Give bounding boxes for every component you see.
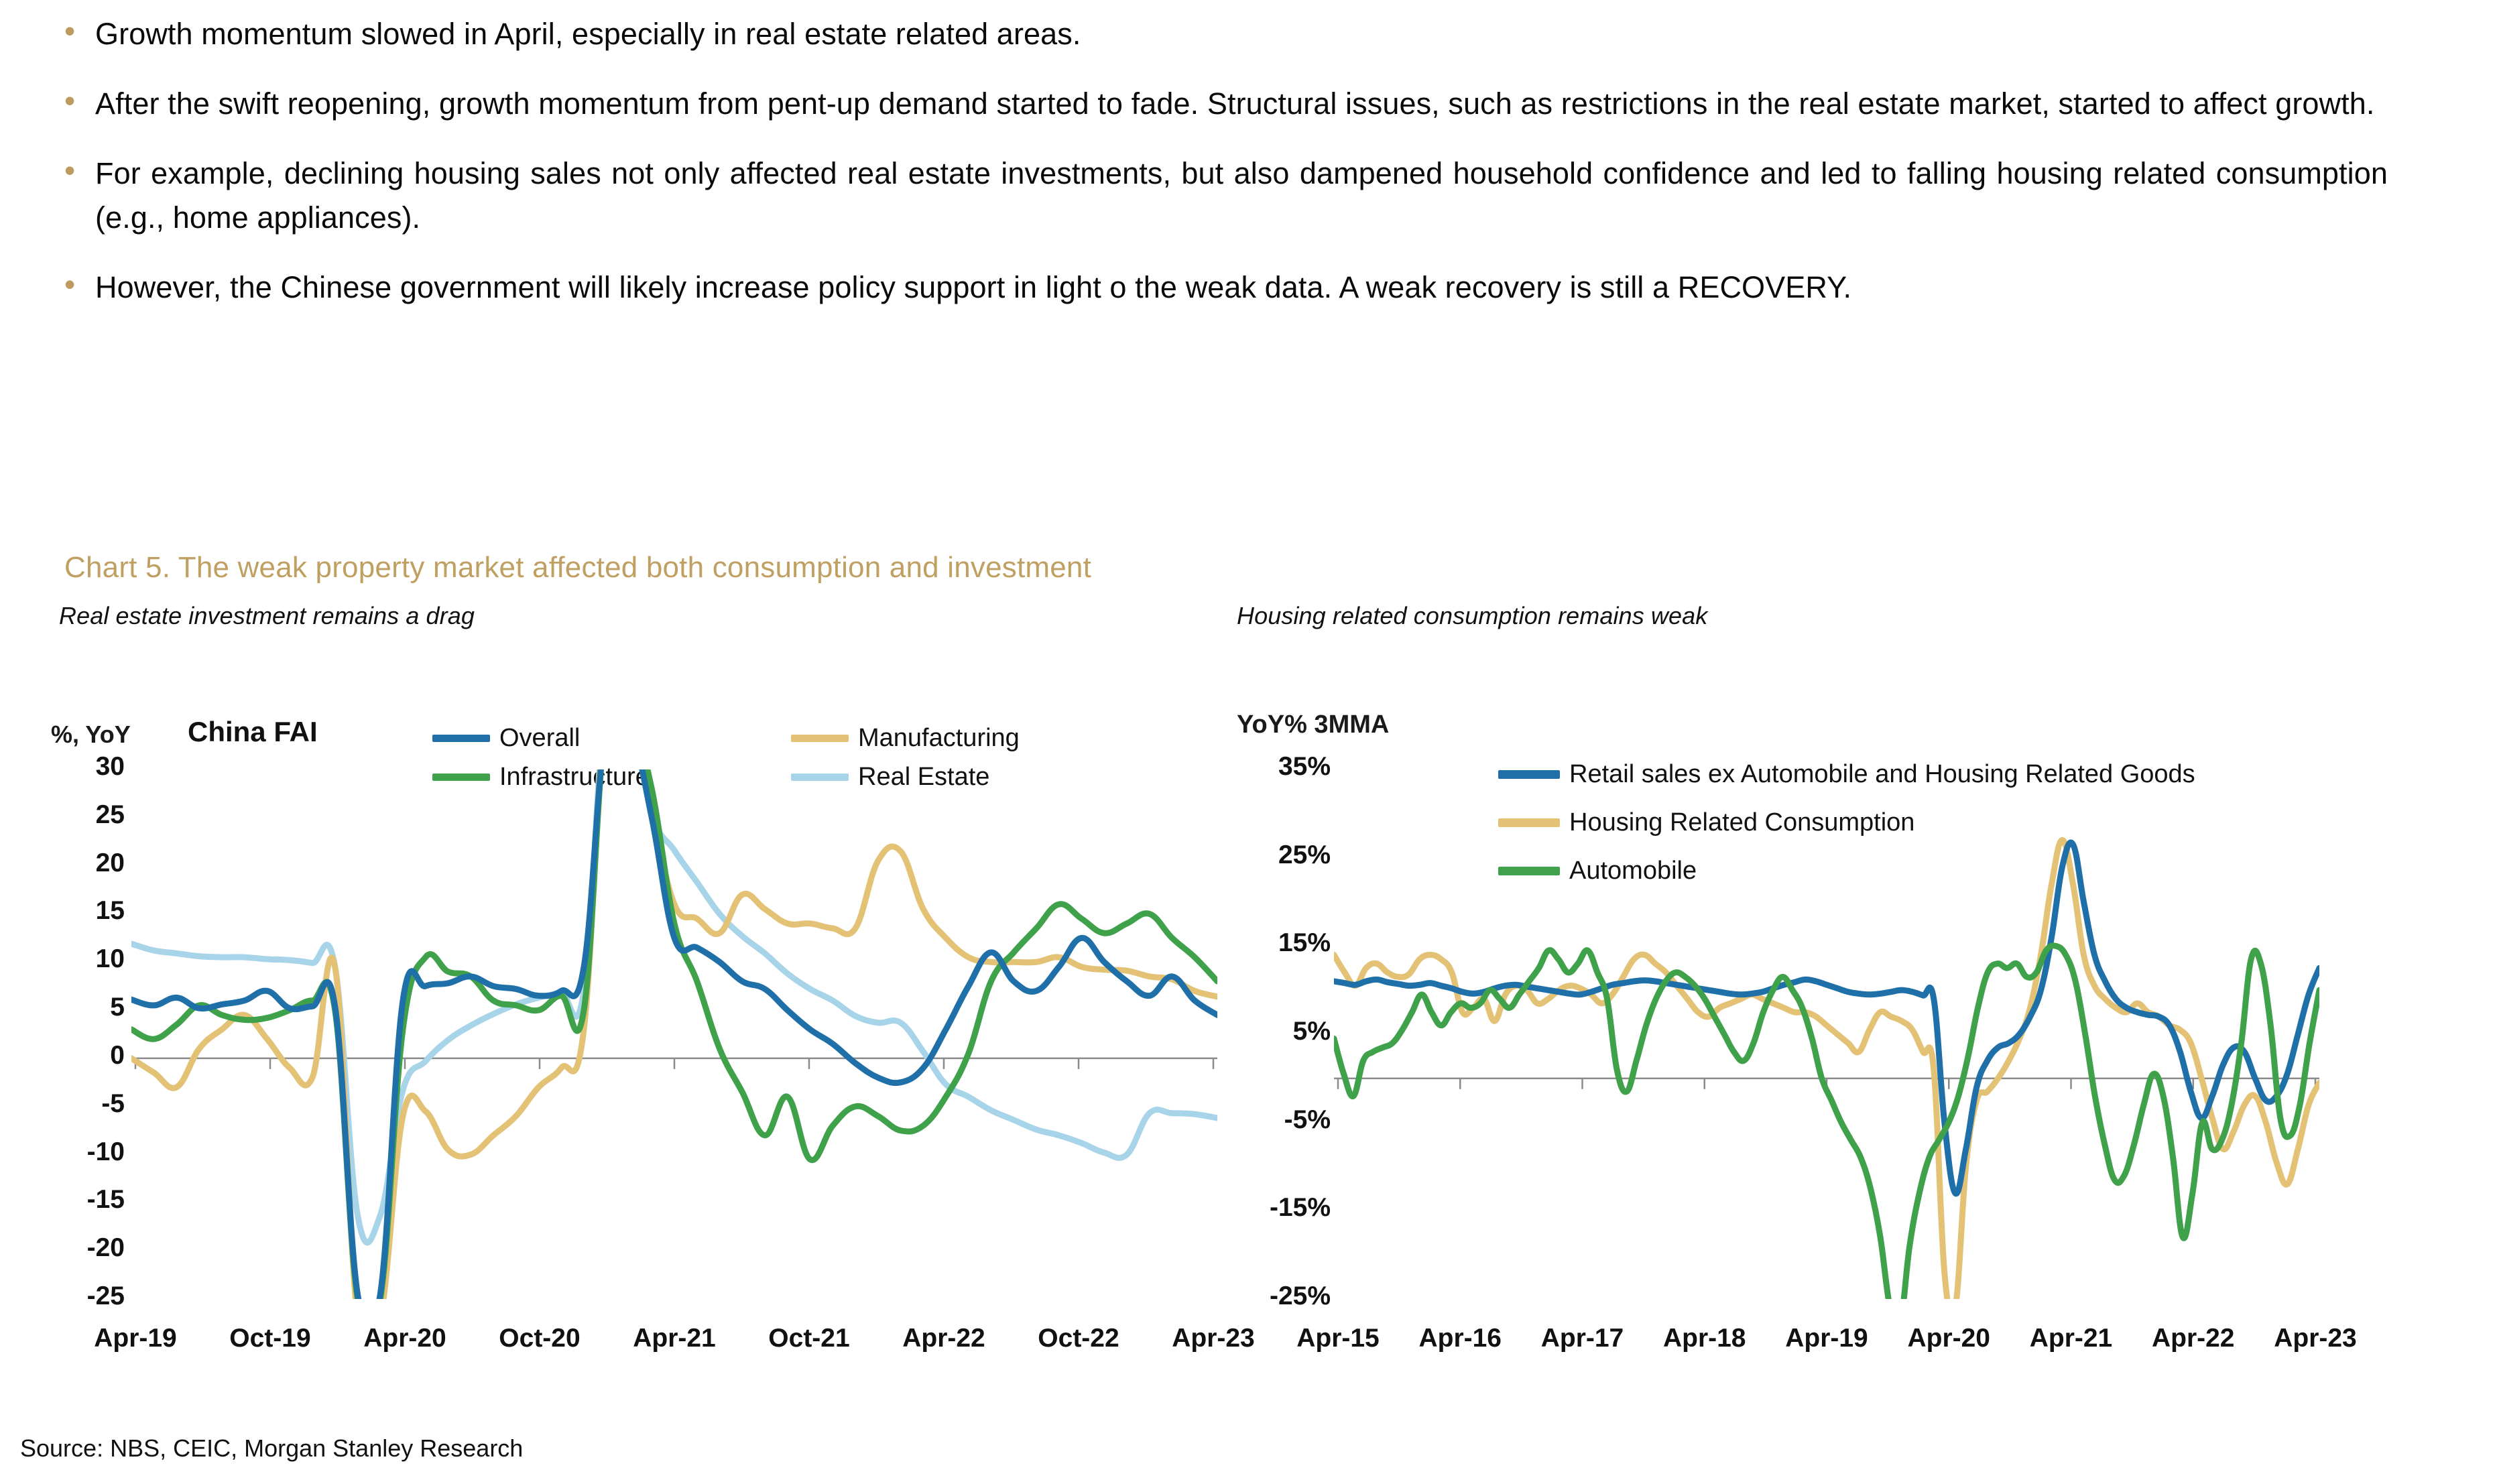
- series-line-automobile: [1334, 946, 2319, 1299]
- y-axis-tick-label: 30: [38, 752, 125, 782]
- bullet-item: • After the swift reopening, growth mome…: [64, 82, 2411, 126]
- y-axis-tick-label: -5: [38, 1089, 125, 1119]
- plot-right-svg: [1334, 769, 2319, 1299]
- y-axis-tick-label: 20: [38, 849, 125, 878]
- x-axis-tick-label: Apr-21: [611, 1324, 738, 1353]
- left-axis-unit-label: %, YoY: [51, 721, 131, 749]
- series-line-housing-related-consumption: [1334, 840, 2319, 1299]
- x-axis-tick-label: Apr-17: [1519, 1324, 1646, 1353]
- x-axis-tick-label: Apr-16: [1396, 1324, 1524, 1353]
- y-axis-tick-label: 25: [38, 800, 125, 830]
- y-axis-tick-label: 35%: [1207, 752, 1331, 782]
- y-axis-tick-label: 25%: [1207, 841, 1331, 870]
- y-axis-tick-label: 15%: [1207, 928, 1331, 958]
- x-axis-tick-label: Apr-23: [1150, 1324, 1277, 1353]
- x-axis-tick-label: Apr-19: [72, 1324, 199, 1353]
- y-axis-tick-label: -5%: [1207, 1105, 1331, 1135]
- legend-item-overall: Overall: [432, 723, 650, 753]
- legend-swatch-manufacturing: [791, 735, 849, 742]
- right-chart-plot-area: [1334, 769, 2319, 1299]
- bullet-list: • Growth momentum slowed in April, espec…: [64, 12, 2411, 335]
- source-note: Source: NBS, CEIC, Morgan Stanley Resear…: [20, 1434, 523, 1463]
- x-axis-tick-label: Apr-21: [2008, 1324, 2135, 1353]
- y-axis-tick-label: 5%: [1207, 1017, 1331, 1046]
- bullet-item: • For example, declining housing sales n…: [64, 151, 2411, 240]
- x-axis-tick-label: Apr-22: [880, 1324, 1008, 1353]
- x-axis-tick-label: Apr-23: [2252, 1324, 2379, 1353]
- chart-title: Chart 5. The weak property market affect…: [64, 551, 1091, 584]
- x-axis-tick-label: Oct-22: [1015, 1324, 1142, 1353]
- x-axis-tick-label: Apr-15: [1274, 1324, 1402, 1353]
- bullet-item: • Growth momentum slowed in April, espec…: [64, 12, 2411, 56]
- bullet-dot-icon: •: [64, 151, 95, 189]
- bullet-dot-icon: •: [64, 82, 95, 119]
- left-chart-plot-area: [131, 769, 1217, 1299]
- bullet-dot-icon: •: [64, 265, 95, 303]
- y-axis-tick-label: -25%: [1207, 1282, 1331, 1311]
- x-axis-tick-label: Apr-22: [2130, 1324, 2257, 1353]
- left-panel-subtitle: Real estate investment remains a drag: [59, 602, 475, 630]
- legend-label-overall: Overall: [499, 723, 580, 753]
- y-axis-tick-label: 15: [38, 896, 125, 926]
- legend-item-manufacturing: Manufacturing: [791, 723, 1020, 753]
- x-axis-tick-label: Apr-20: [341, 1324, 469, 1353]
- right-panel-subtitle: Housing related consumption remains weak: [1237, 602, 1707, 630]
- x-axis-tick-label: Oct-19: [206, 1324, 334, 1353]
- legend-label-manufacturing: Manufacturing: [858, 723, 1020, 753]
- bullet-text: However, the Chinese government will lik…: [95, 265, 2388, 310]
- bullet-text: After the swift reopening, growth moment…: [95, 82, 2388, 126]
- y-axis-tick-label: 10: [38, 944, 125, 974]
- y-axis-tick-label: 0: [38, 1041, 125, 1070]
- x-axis-tick-label: Apr-20: [1885, 1324, 2012, 1353]
- bullet-text: For example, declining housing sales not…: [95, 151, 2388, 240]
- y-axis-tick-label: -15: [38, 1185, 125, 1215]
- left-chart-name: China FAI: [188, 716, 318, 748]
- y-axis-tick-label: 5: [38, 993, 125, 1022]
- x-axis-tick-label: Oct-20: [476, 1324, 603, 1353]
- y-axis-tick-label: -25: [38, 1282, 125, 1311]
- bullet-dot-icon: •: [64, 12, 95, 50]
- x-axis-tick-label: Apr-19: [1763, 1324, 1890, 1353]
- right-axis-unit-label: YoY% 3MMA: [1237, 710, 1389, 739]
- bullet-item: • However, the Chinese government will l…: [64, 265, 2411, 310]
- y-axis-tick-label: -20: [38, 1233, 125, 1263]
- y-axis-tick-label: -15%: [1207, 1193, 1331, 1223]
- plot-left-svg: [131, 769, 1217, 1299]
- y-axis-tick-label: -10: [38, 1137, 125, 1167]
- legend-swatch-overall: [432, 735, 490, 742]
- x-axis-tick-label: Oct-21: [745, 1324, 873, 1353]
- x-axis-tick-label: Apr-18: [1641, 1324, 1768, 1353]
- bullet-text: Growth momentum slowed in April, especia…: [95, 12, 2388, 56]
